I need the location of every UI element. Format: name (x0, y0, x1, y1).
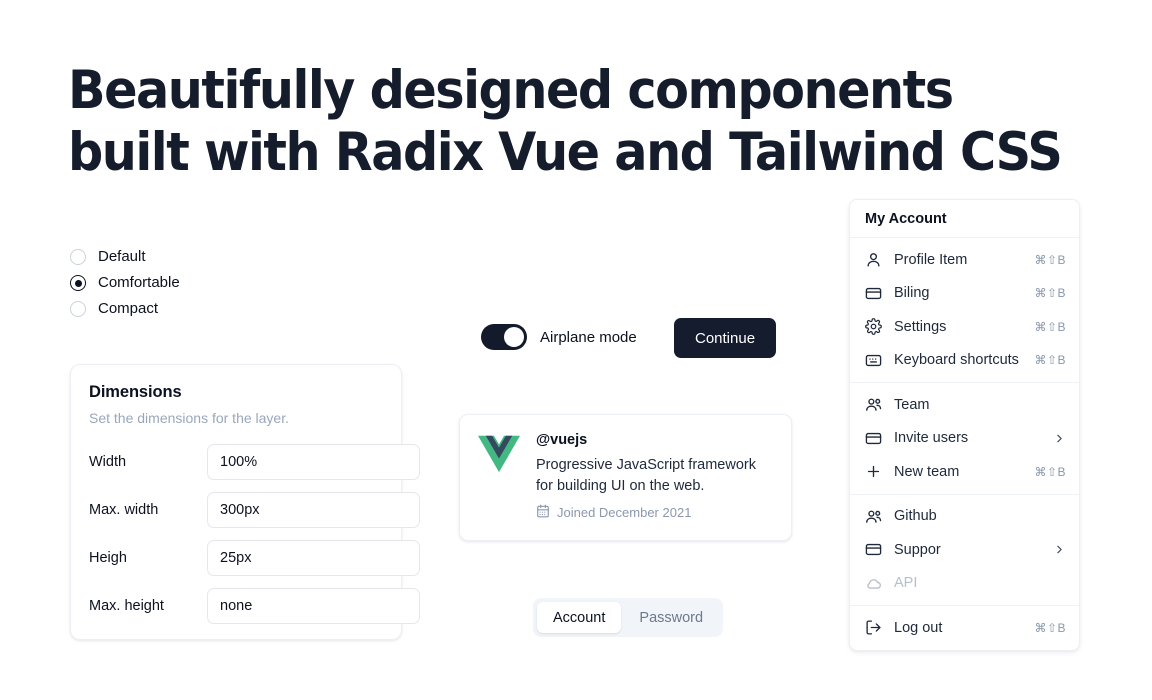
dimensions-field-list: WidthMax. widthHeighMax. height (89, 444, 383, 624)
dimension-input-max-height[interactable] (207, 588, 420, 624)
menu-item-label: Invite users (894, 430, 1053, 446)
radio-option-default[interactable]: Default (70, 249, 180, 265)
airplane-mode-switch[interactable] (481, 324, 527, 350)
page-root: Beautifully designed components built wi… (0, 0, 1152, 700)
menu-item-label: API (894, 575, 1066, 591)
page-title-line-1: Beautifully designed components (68, 60, 961, 122)
menu-item-label: Team (894, 397, 1066, 413)
radio-option-label: Comfortable (98, 275, 180, 291)
plus-icon (865, 463, 882, 480)
radio-option-compact[interactable]: Compact (70, 301, 180, 317)
dimension-field-row: Max. width (89, 492, 383, 528)
menu-item-label: Github (894, 508, 1066, 524)
menu-item-shortcut: ⌘⇧B (1034, 286, 1066, 300)
cloud-icon (865, 575, 882, 592)
dimensions-card: Dimensions Set the dimensions for the la… (70, 364, 402, 640)
menu-item-shortcut: ⌘⇧B (1034, 621, 1066, 635)
dimensions-card-title: Dimensions (89, 383, 383, 402)
dimension-field-label: Heigh (89, 550, 207, 566)
menu-header-label: My Account (850, 200, 1079, 237)
menu-item-shortcut: ⌘⇧B (1034, 320, 1066, 334)
vue-description: Progressive JavaScript framework for bui… (536, 455, 773, 497)
credit-card-icon (865, 430, 882, 447)
menu-group: TeamInvite usersNew team⌘⇧B (850, 383, 1079, 494)
radio-option-label: Default (98, 249, 146, 265)
airplane-mode-label: Airplane mode (540, 329, 637, 346)
dimension-field-row: Width (89, 444, 383, 480)
menu-item-new-team[interactable]: New team⌘⇧B (850, 455, 1079, 489)
dimension-field-label: Width (89, 454, 207, 470)
dimension-input-width[interactable] (207, 444, 420, 480)
menu-group: Profile Item⌘⇧BBiling⌘⇧BSettings⌘⇧BKeybo… (850, 238, 1079, 382)
menu-item-label: Keyboard shortcuts (894, 352, 1034, 368)
dimension-input-max-width[interactable] (207, 492, 420, 528)
menu-item-label: Biling (894, 285, 1034, 301)
gear-icon (865, 318, 882, 335)
page-title-line-2: built with Radix Vue and Tailwind CSS (68, 122, 961, 184)
airplane-mode-row: Airplane mode (481, 324, 637, 350)
menu-item-keyboard-shortcuts[interactable]: Keyboard shortcuts⌘⇧B (850, 344, 1079, 378)
dimension-field-row: Heigh (89, 540, 383, 576)
dimensions-card-description: Set the dimensions for the layer. (89, 410, 383, 426)
radio-option-comfortable[interactable]: Comfortable (70, 275, 180, 291)
dimension-field-row: Max. height (89, 588, 383, 624)
menu-group-list: Profile Item⌘⇧BBiling⌘⇧BSettings⌘⇧BKeybo… (850, 238, 1079, 650)
user-icon (865, 251, 882, 268)
menu-item-settings[interactable]: Settings⌘⇧B (850, 310, 1079, 344)
logout-icon (865, 619, 882, 636)
tab-password[interactable]: Password (623, 602, 719, 633)
menu-item-biling[interactable]: Biling⌘⇧B (850, 277, 1079, 311)
switch-knob (504, 327, 524, 347)
dimension-field-label: Max. width (89, 502, 207, 518)
menu-item-shortcut: ⌘⇧B (1034, 253, 1066, 267)
menu-item-label: New team (894, 464, 1034, 480)
dimension-field-label: Max. height (89, 598, 207, 614)
menu-item-api: API (850, 567, 1079, 601)
vue-profile-card: @vuejs Progressive JavaScript framework … (459, 414, 792, 541)
page-title: Beautifully designed components built wi… (68, 60, 1028, 184)
settings-tabs: AccountPassword (533, 598, 723, 637)
users-icon (865, 508, 882, 525)
keyboard-icon (865, 352, 882, 369)
credit-card-icon (865, 285, 882, 302)
vue-profile-body: @vuejs Progressive JavaScript framework … (536, 432, 773, 523)
menu-item-label: Log out (894, 620, 1034, 636)
vue-joined-row: Joined December 2021 (536, 504, 773, 521)
credit-card-icon (865, 541, 882, 558)
radio-indicator[interactable] (70, 301, 86, 317)
radio-indicator[interactable] (70, 249, 86, 265)
continue-button[interactable]: Continue (674, 318, 776, 358)
vue-logo-icon (478, 434, 520, 476)
account-dropdown-menu: My Account Profile Item⌘⇧BBiling⌘⇧BSetti… (849, 199, 1080, 651)
menu-group: Log out⌘⇧B (850, 606, 1079, 650)
menu-item-label: Suppor (894, 542, 1053, 558)
menu-item-profile-item[interactable]: Profile Item⌘⇧B (850, 243, 1079, 277)
menu-item-team[interactable]: Team (850, 388, 1079, 422)
chevron-right-icon (1053, 543, 1066, 556)
menu-item-log-out[interactable]: Log out⌘⇧B (850, 611, 1079, 645)
menu-item-label: Settings (894, 319, 1034, 335)
menu-item-github[interactable]: Github (850, 500, 1079, 534)
radio-indicator[interactable] (70, 275, 86, 291)
tab-account[interactable]: Account (537, 602, 621, 633)
vue-joined-text: Joined December 2021 (557, 505, 691, 520)
chevron-right-icon (1053, 432, 1066, 445)
menu-item-shortcut: ⌘⇧B (1034, 465, 1066, 479)
radio-option-label: Compact (98, 301, 158, 317)
calendar-icon (536, 504, 550, 521)
density-radio-group: DefaultComfortableCompact (70, 249, 180, 317)
menu-item-label: Profile Item (894, 252, 1034, 268)
users-icon (865, 396, 882, 413)
menu-item-shortcut: ⌘⇧B (1034, 353, 1066, 367)
menu-item-suppor[interactable]: Suppor (850, 533, 1079, 567)
menu-group: GithubSupporAPI (850, 495, 1079, 606)
vue-handle: @vuejs (536, 432, 773, 448)
dimension-input-heigh[interactable] (207, 540, 420, 576)
menu-item-invite-users[interactable]: Invite users (850, 422, 1079, 456)
